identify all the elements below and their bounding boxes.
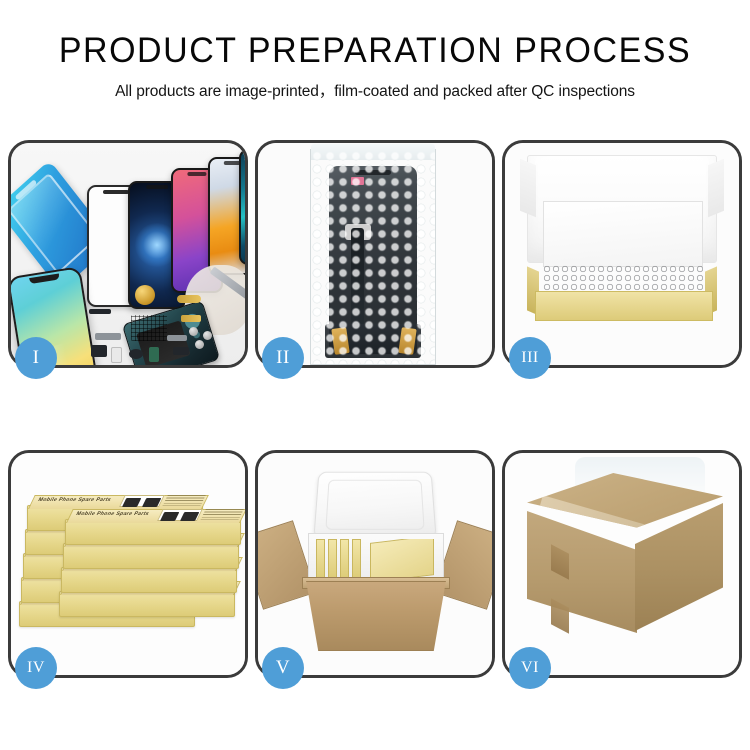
step-badge-6: VI [509, 647, 551, 689]
stacked-box-second: Mobile Phone Spare Parts [65, 519, 241, 545]
stacked-box [59, 591, 235, 617]
step-badge-1: I [15, 337, 57, 379]
styrofoam-lid-icon [313, 472, 436, 539]
step-3-image [505, 143, 739, 365]
step-2-image [258, 143, 492, 365]
box-label-checklist [199, 509, 243, 522]
page-title: PRODUCT PREPARATION PROCESS [11, 32, 739, 70]
box-front-panel [535, 291, 713, 321]
stacked-box [63, 543, 239, 569]
step-6-image [505, 453, 739, 675]
foam-sheet-icon [543, 201, 703, 267]
step-5-image [258, 453, 492, 675]
page-header: PRODUCT PREPARATION PROCESS All products… [0, 0, 750, 101]
box-label-text: Mobile Phone Spare Parts [37, 497, 112, 503]
step-1-image [11, 143, 245, 365]
screws-icon [189, 327, 223, 349]
phone-teal-icon [239, 149, 245, 265]
step-badge-4: IV [15, 647, 57, 689]
box-label-thumbnails [119, 495, 165, 507]
step-4-image: Mobile Phone Spare Parts Mobile Phone Sp… [11, 453, 245, 675]
bubble-wrapped-contents-icon [543, 265, 703, 293]
box-label-top: Mobile Phone Spare Parts [28, 494, 209, 509]
bubble-wrap-bag-icon [310, 149, 436, 365]
carton-front-panel [300, 581, 452, 651]
page-subtitle: All products are image-printed，film-coat… [0, 79, 750, 101]
vibration-motor-icon [135, 285, 155, 305]
step-panel-2: II [255, 140, 495, 368]
step-panel-3: III [502, 140, 742, 368]
box-stack: Mobile Phone Spare Parts Mobile Phone Sp… [17, 477, 243, 663]
step-badge-3: III [509, 337, 551, 379]
box-label-second: Mobile Phone Spare Parts [66, 508, 245, 523]
chip-grid-icon [131, 315, 167, 341]
box-label-text: Mobile Phone Spare Parts [75, 511, 150, 517]
process-steps-grid: I II I [8, 140, 742, 678]
step-badge-2: II [262, 337, 304, 379]
pink-label-icon [351, 177, 364, 185]
packed-boxes-group [316, 539, 436, 579]
step-panel-4: Mobile Phone Spare Parts Mobile Phone Sp… [8, 450, 248, 678]
sealed-carton-icon [527, 473, 723, 655]
step-panel-5: V [255, 450, 495, 678]
box-label-thumbnails [157, 509, 203, 521]
step-panel-1: I [8, 140, 248, 368]
carton-left-face [527, 511, 637, 633]
box-label-checklist [161, 495, 205, 508]
step-badge-5: V [262, 647, 304, 689]
step-panel-6: VI [502, 450, 742, 678]
stacked-box [61, 567, 237, 593]
